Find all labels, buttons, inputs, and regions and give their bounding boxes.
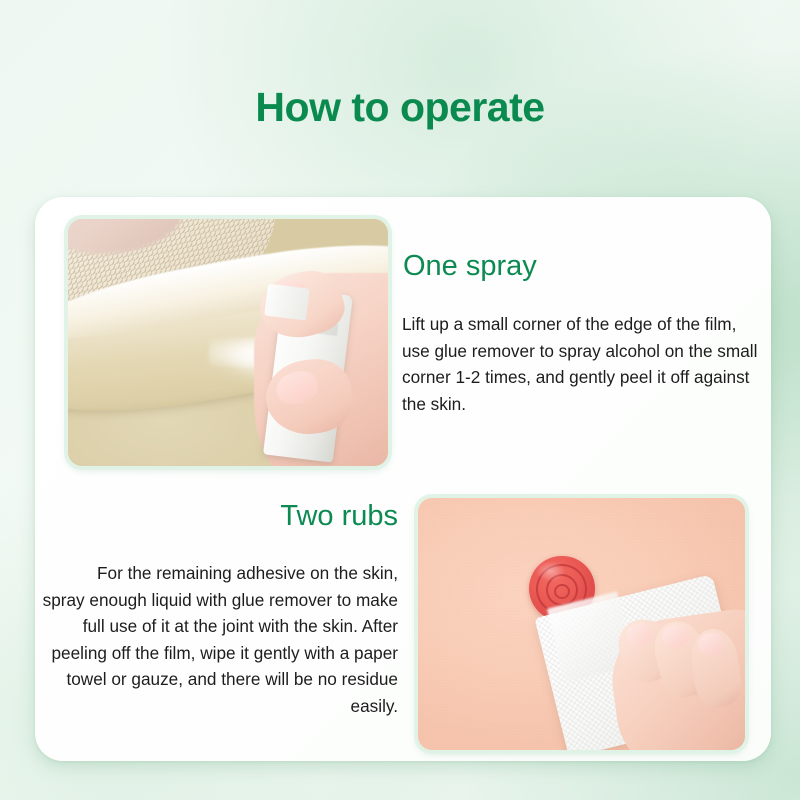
step-2-body: For the remaining adhesive on the skin, … <box>36 560 398 719</box>
step-1-body: Lift up a small corner of the edge of th… <box>402 311 764 417</box>
step-2-image-wipe <box>418 498 745 750</box>
page-title: How to operate <box>0 84 800 131</box>
step-1-heading: One spray <box>403 250 537 283</box>
page-root: How to operate One spray Lift up a small… <box>0 0 800 800</box>
step-1-image-spray <box>68 219 388 466</box>
spray-nozzle <box>265 283 310 320</box>
step-2-heading: Two rubs <box>0 500 398 533</box>
